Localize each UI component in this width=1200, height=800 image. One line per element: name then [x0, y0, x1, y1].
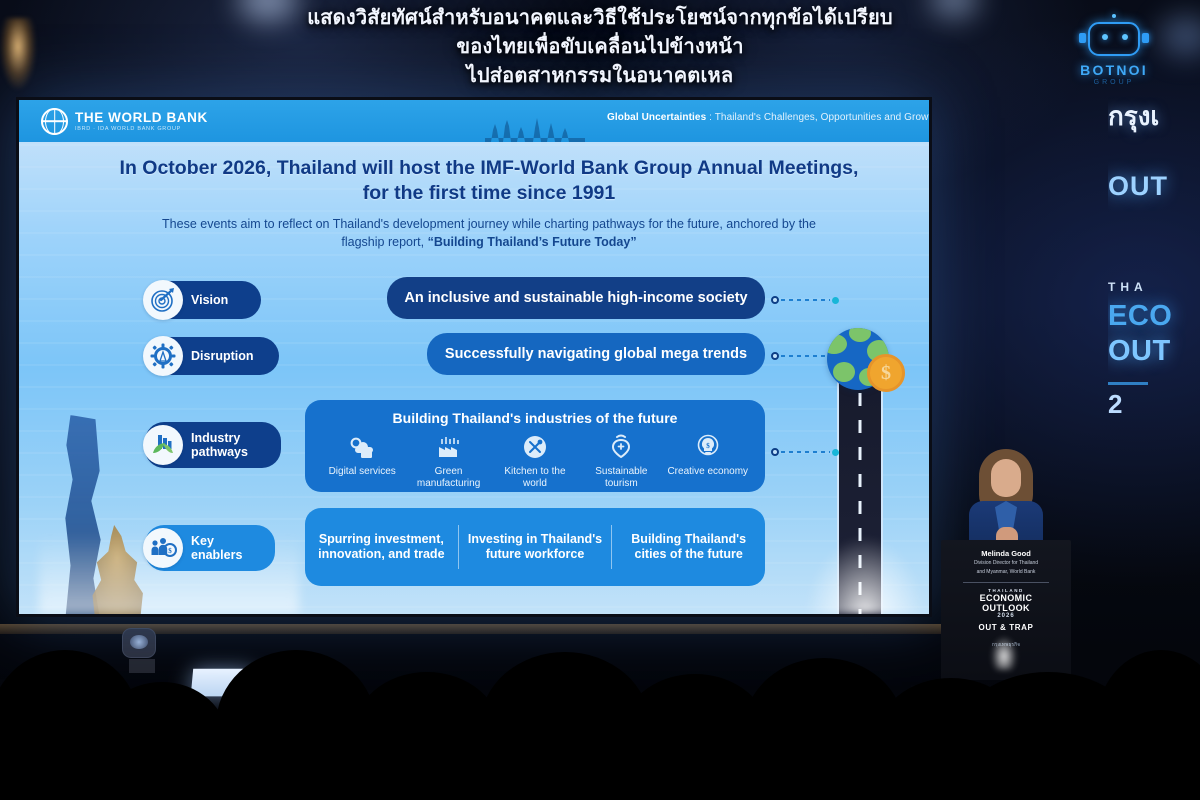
cloud-gear-icon [320, 432, 404, 462]
factory-icon [407, 432, 491, 462]
industry-item-label: Creative economy [667, 466, 748, 477]
row-label-text: Industry pathways [191, 431, 263, 459]
slide-header-title: Global Uncertainties : Thailand's Challe… [607, 112, 929, 123]
temple-silhouette-graphic [485, 114, 585, 142]
row-label-disruption[interactable]: Disruption [145, 337, 279, 375]
header-title-rest: : Thailand's Challenges, Opportunities a… [706, 112, 929, 123]
industry-item-label: Kitchen to the world [504, 466, 565, 489]
lightbulb-idea-icon: $ [666, 432, 750, 462]
connector-line-industry [771, 448, 839, 456]
world-bank-sublabel: IBRD · IDA WORLD BANK GROUP [75, 126, 208, 132]
fork-knife-icon [493, 432, 577, 462]
connector-line-vision [771, 296, 839, 304]
panel-industry-pathways[interactable]: Building Thailand's industries of the fu… [305, 400, 765, 492]
botnoi-wordmark: BOTNOI [1066, 62, 1162, 78]
enabler-item[interactable]: Spurring investment, innovation, and tra… [305, 532, 458, 562]
thai-subtitle-overlay: แสดงวิสัยทัศน์สำหรับอนาคตและวิธีใช้ประโย… [0, 4, 1200, 91]
podium: Melinda Good Division Director for Thail… [941, 540, 1071, 680]
slide-subtitle: These events aim to reflect on Thailand'… [149, 215, 829, 251]
thai-subtitle-line-3: ไปส่อตสาหกรรมในอนาคตเหล [0, 62, 1200, 91]
panel-key-enablers[interactable]: Spurring investment, innovation, and tra… [305, 508, 765, 586]
event-economic-label: ECONOMIC [947, 593, 1065, 603]
industry-item-digital-services[interactable]: Digital services [320, 432, 404, 490]
audience-row-base [0, 734, 1200, 800]
event-banner-right: กรุงเ OUT THA ECO OUT 2 [1108, 96, 1200, 446]
row-label-text: Key enablers [191, 534, 257, 562]
row-label-key-enablers[interactable]: $ Key enablers [145, 525, 275, 571]
world-bank-name: THE WORLD BANK [75, 111, 208, 125]
banner-economic-text: ECO [1108, 300, 1200, 333]
thai-subtitle-line-2: ของไทยเพื่อขับเคลื่อนไปข้างหน้า [0, 33, 1200, 62]
svg-text:$: $ [168, 547, 172, 555]
speaker-name: Melinda Good [947, 549, 1065, 558]
industry-item-kitchen-to-the-world[interactable]: Kitchen to the world [493, 432, 577, 490]
projection-screen: THE WORLD BANK IBRD · IDA WORLD BANK GRO… [16, 97, 932, 617]
presentation-slide: THE WORLD BANK IBRD · IDA WORLD BANK GRO… [19, 100, 929, 614]
industry-item-sustainable-tourism[interactable]: Sustainable tourism [579, 432, 663, 490]
header-title-bold: Global Uncertainties [607, 112, 706, 123]
enabler-item[interactable]: Building Thailand's cities of the future [612, 532, 765, 562]
world-bank-logo: THE WORLD BANK IBRD · IDA WORLD BANK GRO… [41, 108, 208, 135]
speaker-person [963, 443, 1049, 555]
industry-item-green-manufacturing[interactable]: Green manufacturing [407, 432, 491, 490]
row-label-vision[interactable]: Vision [145, 281, 261, 319]
buildings-leaf-icon [143, 425, 183, 465]
stage-moving-head-light [122, 628, 162, 674]
palm-badge-icon [579, 432, 663, 462]
banner-thai-text: กรุงเ [1108, 96, 1200, 137]
banner-thailand-text: THA [1108, 280, 1200, 294]
svg-text:$: $ [706, 442, 710, 450]
botnoi-group-label: GROUP [1066, 79, 1162, 86]
banner-out-text: OUT [1108, 171, 1200, 202]
banner-divider [1108, 382, 1148, 385]
road-mist [805, 536, 925, 614]
bubble-vision[interactable]: An inclusive and sustainable high-income… [387, 277, 765, 319]
bubble-disruption[interactable]: Successfully navigating global mega tren… [427, 333, 765, 375]
botnoi-logo: BOTNOI GROUP [1066, 18, 1162, 94]
speaker-role-line-2: and Myanmar, World Bank [947, 569, 1065, 576]
event-year-label: 2026 [947, 613, 1065, 619]
row-label-text: Vision [191, 293, 228, 307]
event-tagline: OUT & TRAP [947, 623, 1065, 632]
row-label-text: Disruption [191, 349, 254, 363]
event-outlook-label: OUTLOOK [947, 603, 1065, 613]
panel-industry-title: Building Thailand's industries of the fu… [305, 400, 765, 426]
speaker-face [991, 459, 1021, 497]
gear-cog-icon [143, 336, 183, 376]
robot-head-icon [1078, 18, 1150, 60]
industry-item-label: Sustainable tourism [595, 466, 647, 489]
row-label-industry-pathways[interactable]: Industry pathways [145, 422, 281, 468]
speaker-role-line-1: Division Director for Thailand [947, 560, 1065, 567]
industry-item-label: Green manufacturing [417, 466, 480, 489]
podium-nameplate: Melinda Good Division Director for Thail… [941, 540, 1071, 649]
industry-item-label: Digital services [329, 466, 396, 477]
world-bank-globe-icon [41, 108, 68, 135]
people-group-icon: $ [143, 528, 183, 568]
podium-light-glow [991, 636, 1017, 670]
banner-outlook-text: OUT [1108, 335, 1200, 368]
thai-subtitle-line-1: แสดงวิสัยทัศน์สำหรับอนาคตและวิธีใช้ประโย… [0, 4, 1200, 33]
industry-item-creative-economy[interactable]: $ Creative economy [666, 432, 750, 490]
slide-report-name: “Building Thailand’s Future Today” [428, 235, 637, 249]
nameplate-divider [963, 582, 1049, 583]
slide-title: In October 2026, Thailand will host the … [109, 156, 869, 206]
slide-header-bar: THE WORLD BANK IBRD · IDA WORLD BANK GRO… [19, 100, 929, 142]
target-dart-icon [143, 280, 183, 320]
banner-year-text: 2 [1108, 389, 1200, 420]
dollar-coin-icon: $ [867, 354, 905, 392]
enabler-item[interactable]: Investing in Thailand's future workforce [459, 532, 612, 562]
